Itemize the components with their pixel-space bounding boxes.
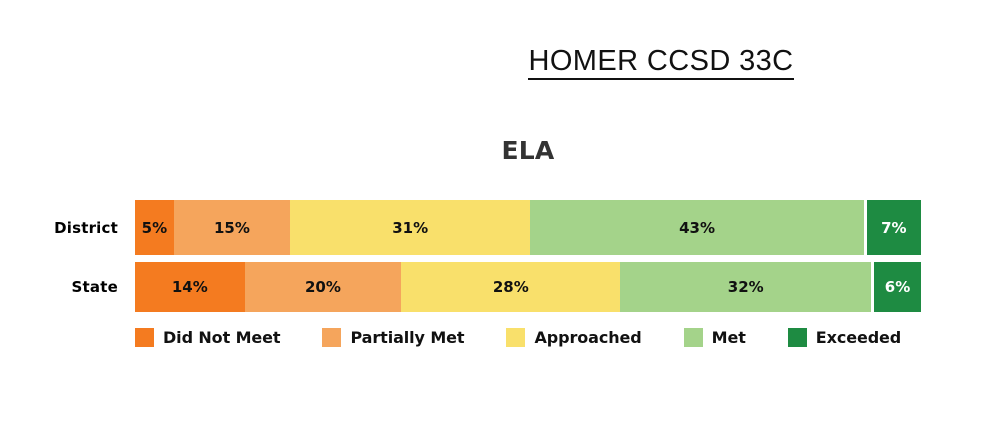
bar-segment: 28% bbox=[401, 262, 620, 312]
legend-label: Met bbox=[712, 328, 746, 347]
legend-swatch-icon bbox=[506, 328, 525, 347]
bar-segment-label: 31% bbox=[392, 219, 428, 237]
row-label-state: State bbox=[0, 262, 118, 312]
bar-segment-label: 14% bbox=[172, 278, 208, 296]
legend-item[interactable]: Exceeded bbox=[788, 328, 901, 347]
legend-label: Approached bbox=[534, 328, 641, 347]
bar-segment-label: 7% bbox=[881, 219, 906, 237]
bar-segment: 7% bbox=[864, 200, 921, 255]
bar-stack-state: 14%20%28%32%6% bbox=[135, 262, 921, 312]
legend-swatch-icon bbox=[684, 328, 703, 347]
legend-swatch-icon bbox=[322, 328, 341, 347]
legend-item[interactable]: Did Not Meet bbox=[135, 328, 280, 347]
row-label-district: District bbox=[0, 200, 118, 255]
bar-segment-label: 32% bbox=[728, 278, 764, 296]
bar-segment: 14% bbox=[135, 262, 245, 312]
bar-segment-label: 28% bbox=[493, 278, 529, 296]
bar-segment-label: 6% bbox=[885, 278, 910, 296]
district-header: HOMER CCSD 33C bbox=[0, 46, 1002, 80]
chart-legend: Did Not MeetPartially MetApproachedMetEx… bbox=[135, 325, 921, 349]
bar-segment: 6% bbox=[871, 262, 921, 312]
chart-title: ELA bbox=[135, 136, 921, 165]
legend-item[interactable]: Met bbox=[684, 328, 746, 347]
bar-segment: 20% bbox=[245, 262, 402, 312]
legend-label: Exceeded bbox=[816, 328, 901, 347]
bar-segment: 15% bbox=[174, 200, 290, 255]
legend-item[interactable]: Partially Met bbox=[322, 328, 464, 347]
legend-swatch-icon bbox=[135, 328, 154, 347]
bar-segment: 32% bbox=[620, 262, 871, 312]
bar-segment-label: 20% bbox=[305, 278, 341, 296]
bar-segment: 5% bbox=[135, 200, 174, 255]
bar-row-district: District 5%15%31%43%7% bbox=[0, 200, 1002, 255]
legend-label: Partially Met bbox=[350, 328, 464, 347]
stacked-bar-chart: District 5%15%31%43%7% State 14%20%28%32… bbox=[0, 196, 1002, 321]
bar-segment-label: 43% bbox=[679, 219, 715, 237]
legend-label: Did Not Meet bbox=[163, 328, 280, 347]
bar-row-state: State 14%20%28%32%6% bbox=[0, 262, 1002, 312]
district-name: HOMER CCSD 33C bbox=[528, 46, 793, 80]
bar-segment-label: 15% bbox=[214, 219, 250, 237]
bar-segment-label: 5% bbox=[142, 219, 167, 237]
bar-segment: 43% bbox=[530, 200, 863, 255]
legend-swatch-icon bbox=[788, 328, 807, 347]
bar-stack-district: 5%15%31%43%7% bbox=[135, 200, 921, 255]
legend-item[interactable]: Approached bbox=[506, 328, 641, 347]
bar-segment: 31% bbox=[290, 200, 530, 255]
